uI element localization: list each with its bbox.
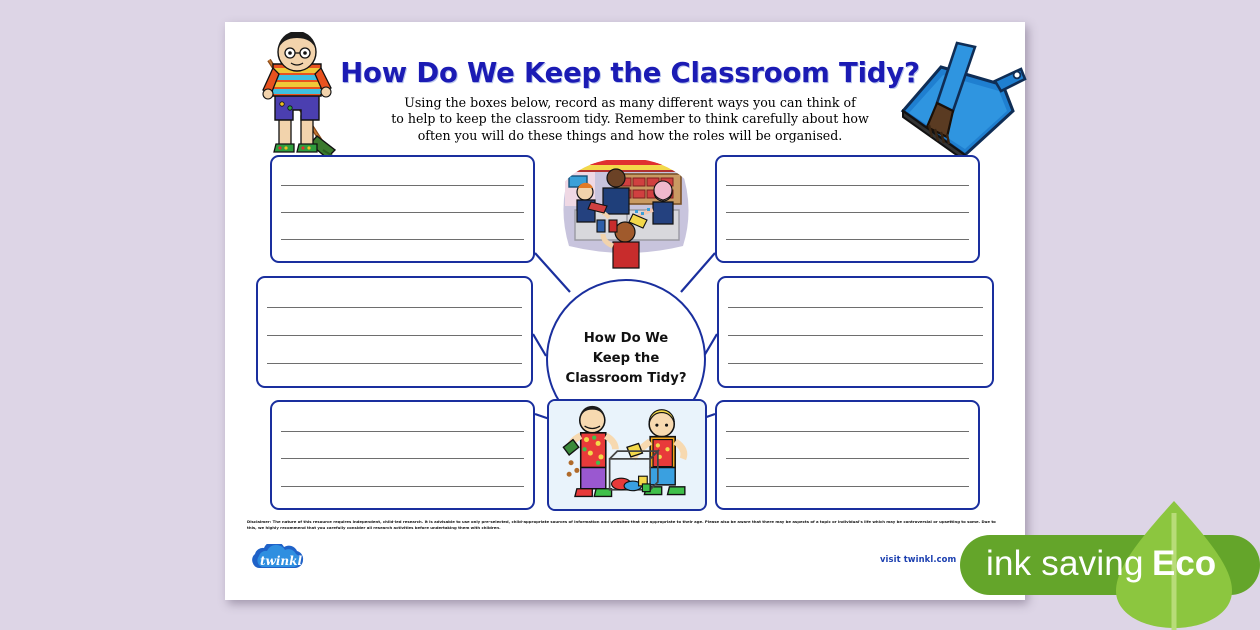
rule-line [726,431,969,432]
answer-box-bottom-left[interactable] [270,400,535,510]
centre-line-3: Classroom Tidy? [566,369,687,389]
rule-line [726,486,969,487]
rule-line [728,363,983,364]
answer-box-top-right[interactable] [715,155,980,263]
svg-text:twinkl: twinkl [260,554,302,568]
answer-box-middle-right[interactable] [717,276,994,388]
rule-line [267,307,522,308]
eco-ink-saving-label: ink saving [986,544,1144,584]
rule-line [726,239,969,240]
rule-line [281,212,524,213]
rule-line [726,185,969,186]
centre-line-1: How Do We [566,329,687,349]
classroom-tidying-photo [551,158,701,270]
rule-line [728,307,983,308]
rule-line [281,458,524,459]
rule-line [728,335,983,336]
eco-label: Eco [1152,544,1216,584]
centre-line-2: Keep the [566,349,687,369]
children-tidying-toys-photo [547,399,707,511]
rule-line [267,363,522,364]
rule-line [281,431,524,432]
ink-saving-eco-badge: ink saving Eco [960,500,1260,630]
worksheet-page: How Do We Keep the Classroom Tidy? Using… [225,22,1025,600]
visit-twinkl-link[interactable]: visit twinkl.com [880,554,956,564]
answer-box-top-left[interactable] [270,155,535,263]
rule-line [281,185,524,186]
rule-line [281,486,524,487]
worksheet-screenshot: How Do We Keep the Classroom Tidy? Using… [0,0,1260,630]
rule-line [267,335,522,336]
centre-topic-label: How Do We Keep the Classroom Tidy? [566,329,687,389]
rule-line [726,458,969,459]
rule-line [726,212,969,213]
rule-line [281,239,524,240]
twinkl-logo: twinkl [237,544,329,578]
answer-box-bottom-right[interactable] [715,400,980,510]
answer-box-middle-left[interactable] [256,276,533,388]
disclaimer-text: Disclaimer: The nature of this resource … [247,519,1003,531]
